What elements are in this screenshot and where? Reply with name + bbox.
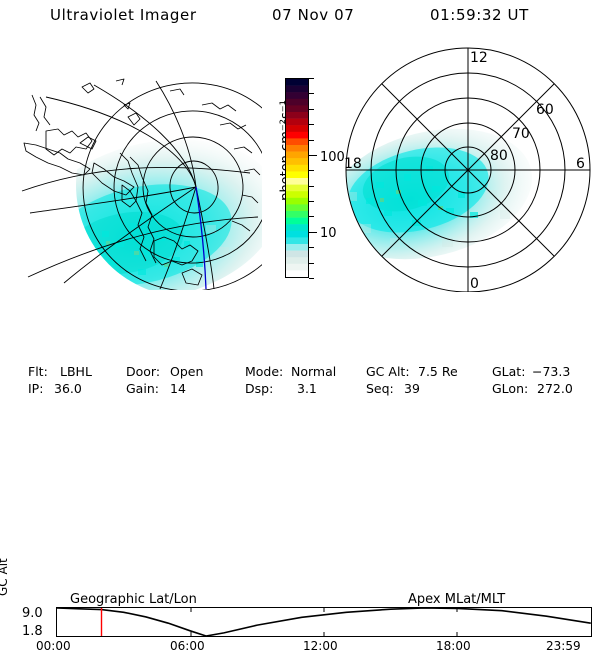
colorbar-swatches <box>286 79 308 277</box>
apex-dial-panel[interactable]: 12 6 0 18 60 70 80 <box>330 42 596 292</box>
status-door-key: Door: <box>126 364 160 379</box>
status-dsp-value: 3.1 <box>297 381 317 396</box>
colorbar-tick <box>309 124 314 125</box>
status-flt-key: Flt: <box>28 364 48 379</box>
status-flt-value: LBHL <box>60 364 92 379</box>
observation-date: 07 Nov 07 <box>272 6 354 24</box>
status-gcalt-value: 7.5 Re <box>418 364 458 379</box>
status-ip-key: IP: <box>28 381 43 396</box>
gc-alt-curve-svg <box>57 608 591 636</box>
status-glon-value: 272.0 <box>537 381 573 396</box>
colorbar-tick <box>309 155 317 156</box>
time-tick-0600: 06:00 <box>170 639 205 653</box>
status-door-value: Open <box>170 364 203 379</box>
status-gain-value: 14 <box>170 381 186 396</box>
mlt-spokes <box>346 48 590 292</box>
gc-alt-tick-max: 9.0 <box>22 606 43 621</box>
status-dsp-key: Dsp: <box>245 381 273 396</box>
status-mode-key: Mode: <box>245 364 283 379</box>
status-seq-value: 39 <box>404 381 420 396</box>
time-tick-2359: 23:59 <box>546 639 581 653</box>
instrument-title: Ultraviolet Imager <box>50 6 197 24</box>
geographic-projection-svg <box>6 45 262 290</box>
status-ip-value: 36.0 <box>54 381 82 396</box>
colorbar: photon cm⁻²s⁻¹ 100 10 <box>262 55 324 290</box>
time-tick-1200: 12:00 <box>303 639 338 653</box>
status-glat-value: −73.3 <box>532 364 570 379</box>
left-panel-caption: Geographic Lat/Lon <box>70 592 197 607</box>
colorbar-tick <box>309 93 314 94</box>
status-gain-key: Gain: <box>126 381 159 396</box>
mlt-label-0: 0 <box>470 276 479 292</box>
apex-mlat-mlt-dial-svg: 12 6 0 18 60 70 80 <box>330 42 596 292</box>
uvi-summary-plot: Ultraviolet Imager 07 Nov 07 01:59:32 UT <box>0 0 600 400</box>
mlt-label-6: 6 <box>576 156 585 172</box>
mlat-label-80: 80 <box>490 148 508 164</box>
colorbar-gradient-box <box>285 78 309 278</box>
colorbar-tick <box>309 278 314 279</box>
status-bar: Flt: LBHL Door: Open Mode: Normal GC Alt… <box>0 364 600 400</box>
mlat-label-70: 70 <box>512 126 530 142</box>
colorbar-tick <box>309 186 314 187</box>
aurora-oval-emission <box>18 118 262 290</box>
orbit-altitude-strip[interactable]: GC Alt Geographic Lat/Lon Apex MLat/MLT … <box>0 296 600 358</box>
colorbar-tick <box>309 109 314 110</box>
gc-alt-plot-area[interactable] <box>56 607 592 637</box>
right-panel-caption: Apex MLat/MLT <box>408 592 505 607</box>
observation-time: 01:59:32 UT <box>430 6 529 24</box>
status-gcalt-key: GC Alt: <box>366 364 410 379</box>
status-glat-key: GLat: <box>492 364 525 379</box>
status-glon-key: GLon: <box>492 381 528 396</box>
colorbar-tick <box>309 232 317 233</box>
colorbar-tick <box>309 247 314 248</box>
mlat-label-60: 60 <box>536 102 554 118</box>
gc-alt-tick-min: 1.8 <box>22 624 43 639</box>
colorbar-tick <box>309 216 314 217</box>
colorbar-tick <box>309 140 314 141</box>
status-seq-key: Seq: <box>366 381 394 396</box>
colorbar-tick <box>309 170 314 171</box>
geographic-image-panel[interactable] <box>6 45 262 290</box>
colorbar-tick <box>309 263 314 264</box>
colorbar-tick <box>309 78 314 79</box>
time-tick-0000: 00:00 <box>36 639 71 653</box>
status-mode-value: Normal <box>291 364 336 379</box>
time-tick-1800: 18:00 <box>436 639 471 653</box>
gc-alt-axis-label: GC Alt <box>0 558 10 596</box>
mlt-label-18: 18 <box>344 156 362 172</box>
colorbar-tick <box>309 201 314 202</box>
mlt-label-12: 12 <box>470 50 488 66</box>
